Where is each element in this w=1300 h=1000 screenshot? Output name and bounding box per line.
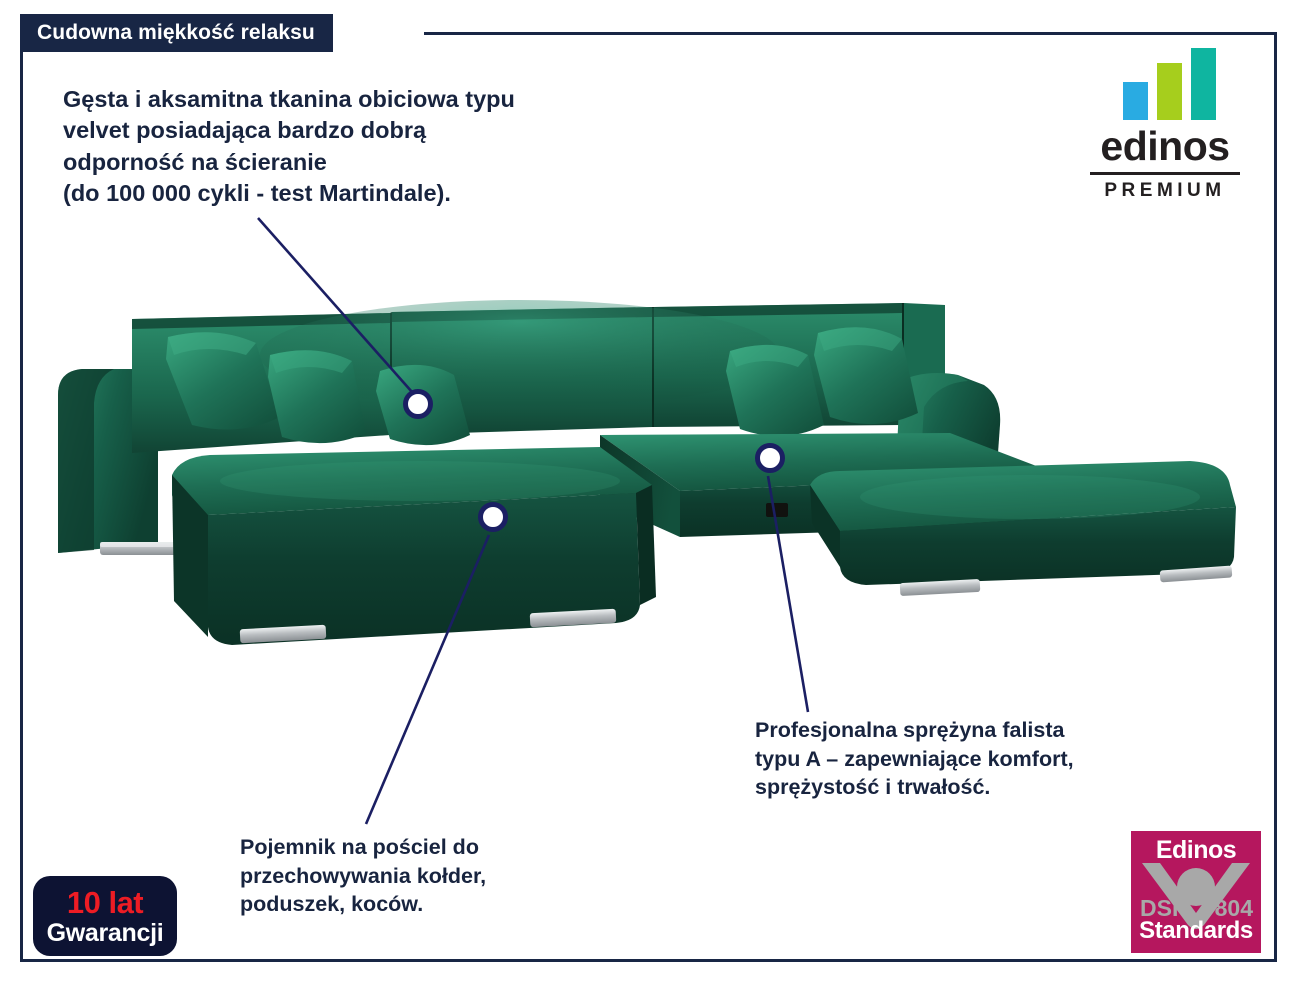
- dsi-brand: Edinos: [1131, 836, 1261, 865]
- product-image-sofa: [40, 285, 1245, 675]
- banner-title: Cudowna miękkość relaksu: [37, 21, 315, 45]
- callout-text-fabric: Gęsta i aksamitna tkanina obiciowa typu …: [63, 84, 703, 209]
- logo-subtitle: PREMIUM: [1080, 180, 1250, 202]
- edinos-premium-logo: edinos PREMIUM: [1080, 48, 1250, 202]
- logo-bar-blue-icon: [1123, 82, 1148, 120]
- dsi-standards-badge: Edinos DSI 804 Standards: [1131, 831, 1261, 953]
- warranty-badge: 10 lat Gwarancji: [33, 876, 177, 956]
- warranty-years: 10 lat: [67, 887, 143, 918]
- logo-bars-icon: [1088, 48, 1250, 120]
- callout-marker-fabric[interactable]: [403, 389, 433, 419]
- callout-text-storage: Pojemnik na pościel do przechowywania ko…: [240, 833, 640, 919]
- logo-bar-teal-icon: [1191, 48, 1216, 120]
- infographic-page: Cudowna miękkość relaksu: [0, 0, 1300, 1000]
- callout-marker-storage[interactable]: [478, 502, 508, 532]
- sofa-center-foot: [766, 503, 788, 517]
- sofa-right-chaise: [810, 461, 1236, 596]
- logo-bar-lime-icon: [1157, 63, 1182, 120]
- logo-divider: [1090, 172, 1240, 175]
- callout-marker-spring[interactable]: [755, 443, 785, 473]
- dsi-standards-label: Standards: [1131, 917, 1261, 945]
- logo-wordmark: edinos: [1080, 126, 1250, 167]
- header-banner: Cudowna miękkość relaksu: [20, 14, 333, 52]
- callout-text-spring: Profesjonalna sprężyna falista typu A – …: [755, 716, 1225, 802]
- warranty-label: Gwarancji: [47, 921, 164, 946]
- sofa-left-chaise: [172, 447, 656, 645]
